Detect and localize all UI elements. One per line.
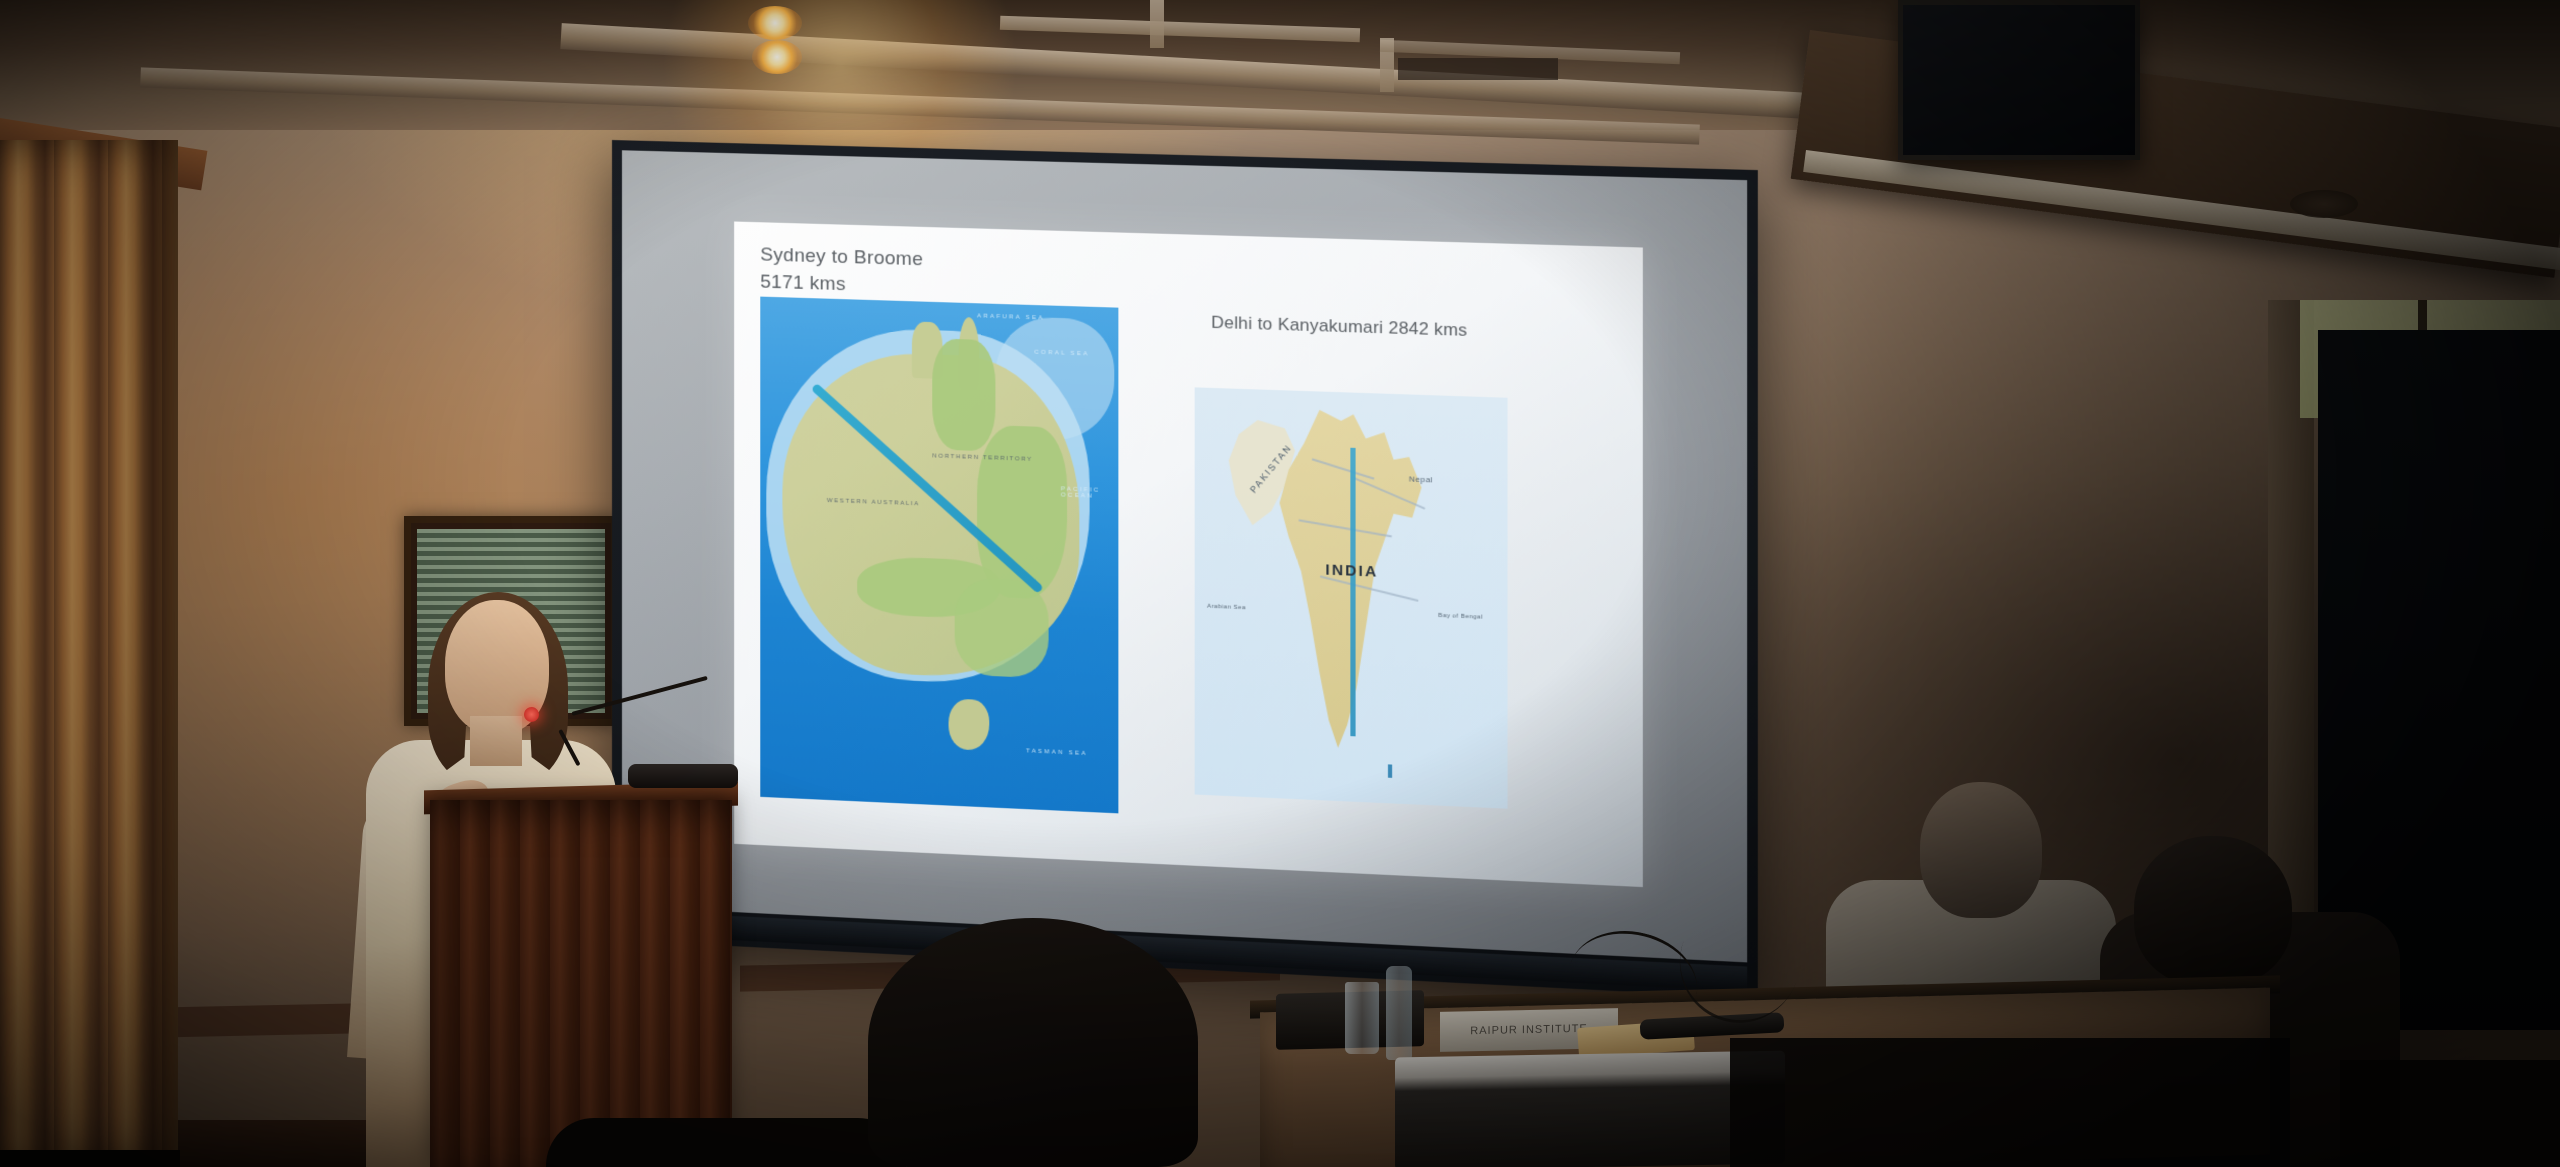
sea-label-tasman: TASMAN SEA bbox=[1026, 748, 1088, 757]
presenter-neck bbox=[470, 716, 522, 766]
map-marker-icon bbox=[1388, 764, 1392, 777]
wooden-lectern bbox=[430, 800, 732, 1167]
window-curtain bbox=[0, 140, 178, 1167]
audience-member-right-1-head bbox=[1920, 782, 2042, 918]
audience-member-right-2-head bbox=[2134, 836, 2292, 986]
foreground-shadow-corner bbox=[2340, 1060, 2560, 1167]
foreground-shadow-right bbox=[1730, 1038, 2290, 1167]
projection-screen: Sydney to Broome 5171 kms Delhi to Kanya… bbox=[612, 140, 1758, 998]
australia-map: WESTERN AUSTRALIA NORTHERN TERRITORY ARA… bbox=[760, 297, 1118, 814]
sea-label-arafura: ARAFURA SEA bbox=[977, 313, 1045, 321]
water-bottle[interactable] bbox=[1386, 966, 1412, 1060]
projection-screen-surface: Sydney to Broome 5171 kms Delhi to Kanya… bbox=[622, 150, 1747, 962]
microphone-status-led-icon bbox=[524, 707, 539, 722]
audience-member-foreground-head bbox=[868, 918, 1198, 1167]
nepal-label: Nepal bbox=[1409, 474, 1433, 484]
water-glass[interactable] bbox=[1345, 982, 1379, 1054]
slide-title-left: Sydney to Broome 5171 kms bbox=[760, 242, 923, 301]
india-country-label: INDIA bbox=[1325, 561, 1378, 580]
microphone-base bbox=[628, 764, 738, 788]
foreground-edge bbox=[0, 1150, 180, 1167]
sea-label-arabian: Arabian Sea bbox=[1207, 604, 1246, 612]
india-route-line bbox=[1350, 448, 1355, 737]
name-placard-text: RAIPUR INSTITUTE bbox=[1470, 1023, 1587, 1037]
ceiling-grid-post-2 bbox=[1150, 0, 1164, 48]
presentation-slide: Sydney to Broome 5171 kms Delhi to Kanya… bbox=[734, 221, 1643, 887]
ceiling-speaker-icon bbox=[2290, 190, 2358, 218]
ceiling-spotlight-1 bbox=[748, 6, 802, 40]
ceiling-vent bbox=[1398, 58, 1558, 80]
sea-label-bengal: Bay of Bengal bbox=[1438, 613, 1483, 621]
ceiling-spotlight-2 bbox=[752, 40, 802, 74]
audience-member-foreground-body bbox=[546, 1118, 906, 1167]
india-map: INDIA PAKISTAN Nepal Arabian Sea Bay of … bbox=[1195, 387, 1508, 808]
sea-label-pacific: PACIFIC OCEAN bbox=[1061, 486, 1102, 500]
laptop[interactable] bbox=[1395, 1051, 1785, 1167]
slide-title-right: Delhi to Kanyakumari 2842 kms bbox=[1211, 313, 1467, 341]
presentation-photo-scene: Sydney to Broome 5171 kms Delhi to Kanya… bbox=[0, 0, 2560, 1167]
tasmania bbox=[949, 698, 990, 750]
wall-monitor[interactable] bbox=[1898, 0, 2140, 160]
